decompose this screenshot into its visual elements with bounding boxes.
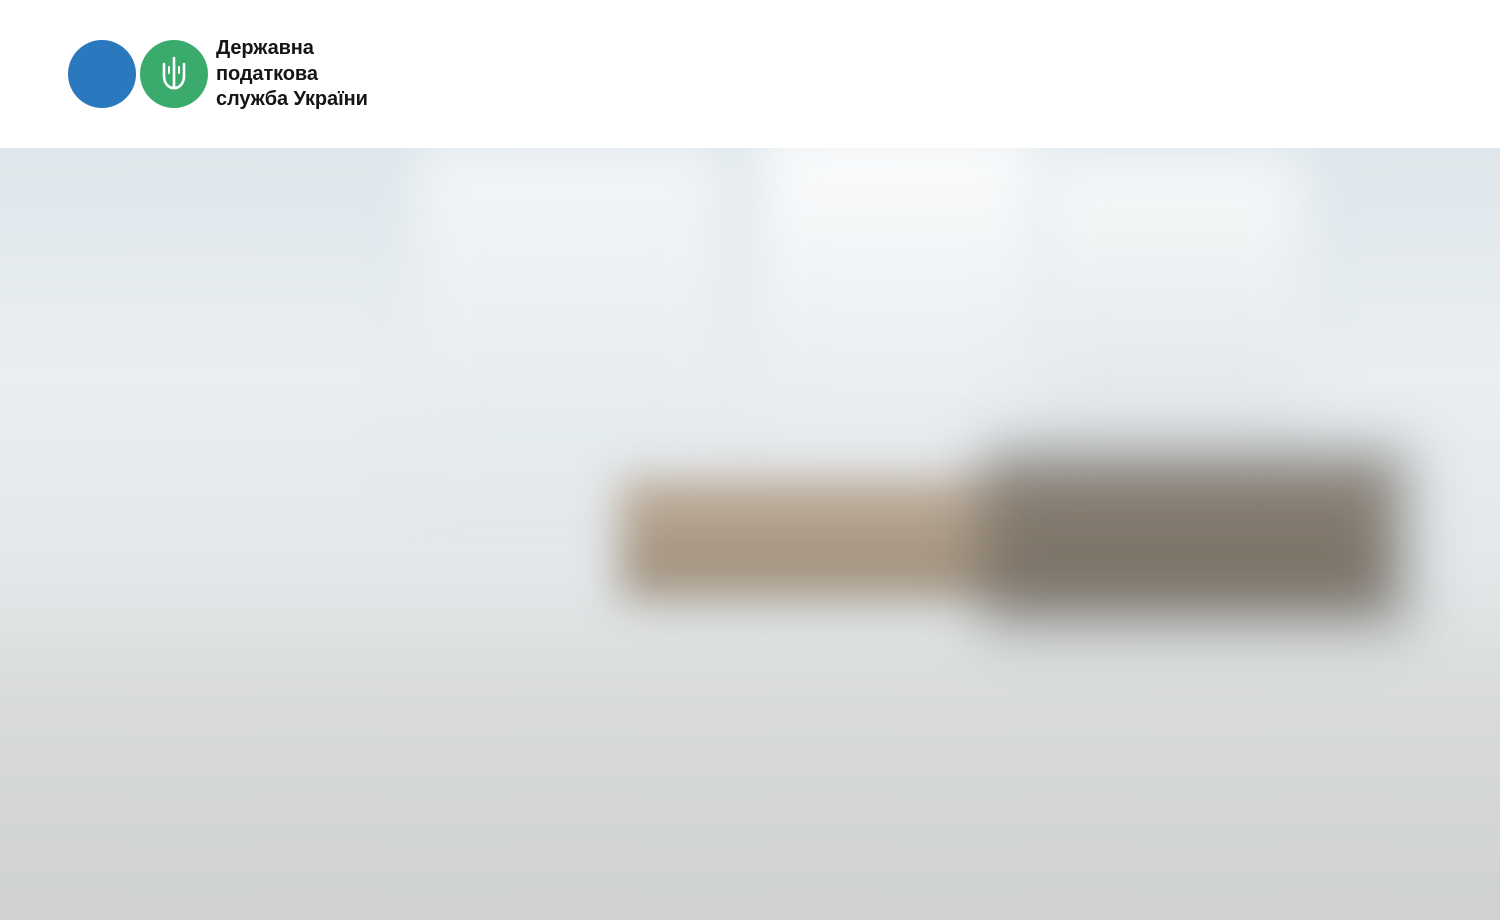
dps-logo[interactable]: Державна податкова служба України: [68, 36, 368, 113]
trident-icon: [159, 55, 189, 93]
wooden-desk: [0, 620, 1500, 920]
window-blur-left: [420, 148, 720, 478]
logo-green-circle-icon: [140, 40, 208, 108]
dps-logo-text: Державна податкова служба України: [216, 36, 368, 113]
header-bar: Державна податкова служба України: [0, 0, 1500, 148]
poster-canvas: Державна податкова служба України Тестов…: [0, 0, 1500, 920]
logo-circles: [68, 40, 198, 108]
window-blur-center: [760, 148, 1040, 428]
logo-blue-circle-icon: [68, 40, 136, 108]
photo-background: Державна податкова служба України Тестов…: [0, 148, 1500, 920]
window-blur-right: [1040, 158, 1300, 458]
dark-furniture-blur: [980, 448, 1410, 628]
